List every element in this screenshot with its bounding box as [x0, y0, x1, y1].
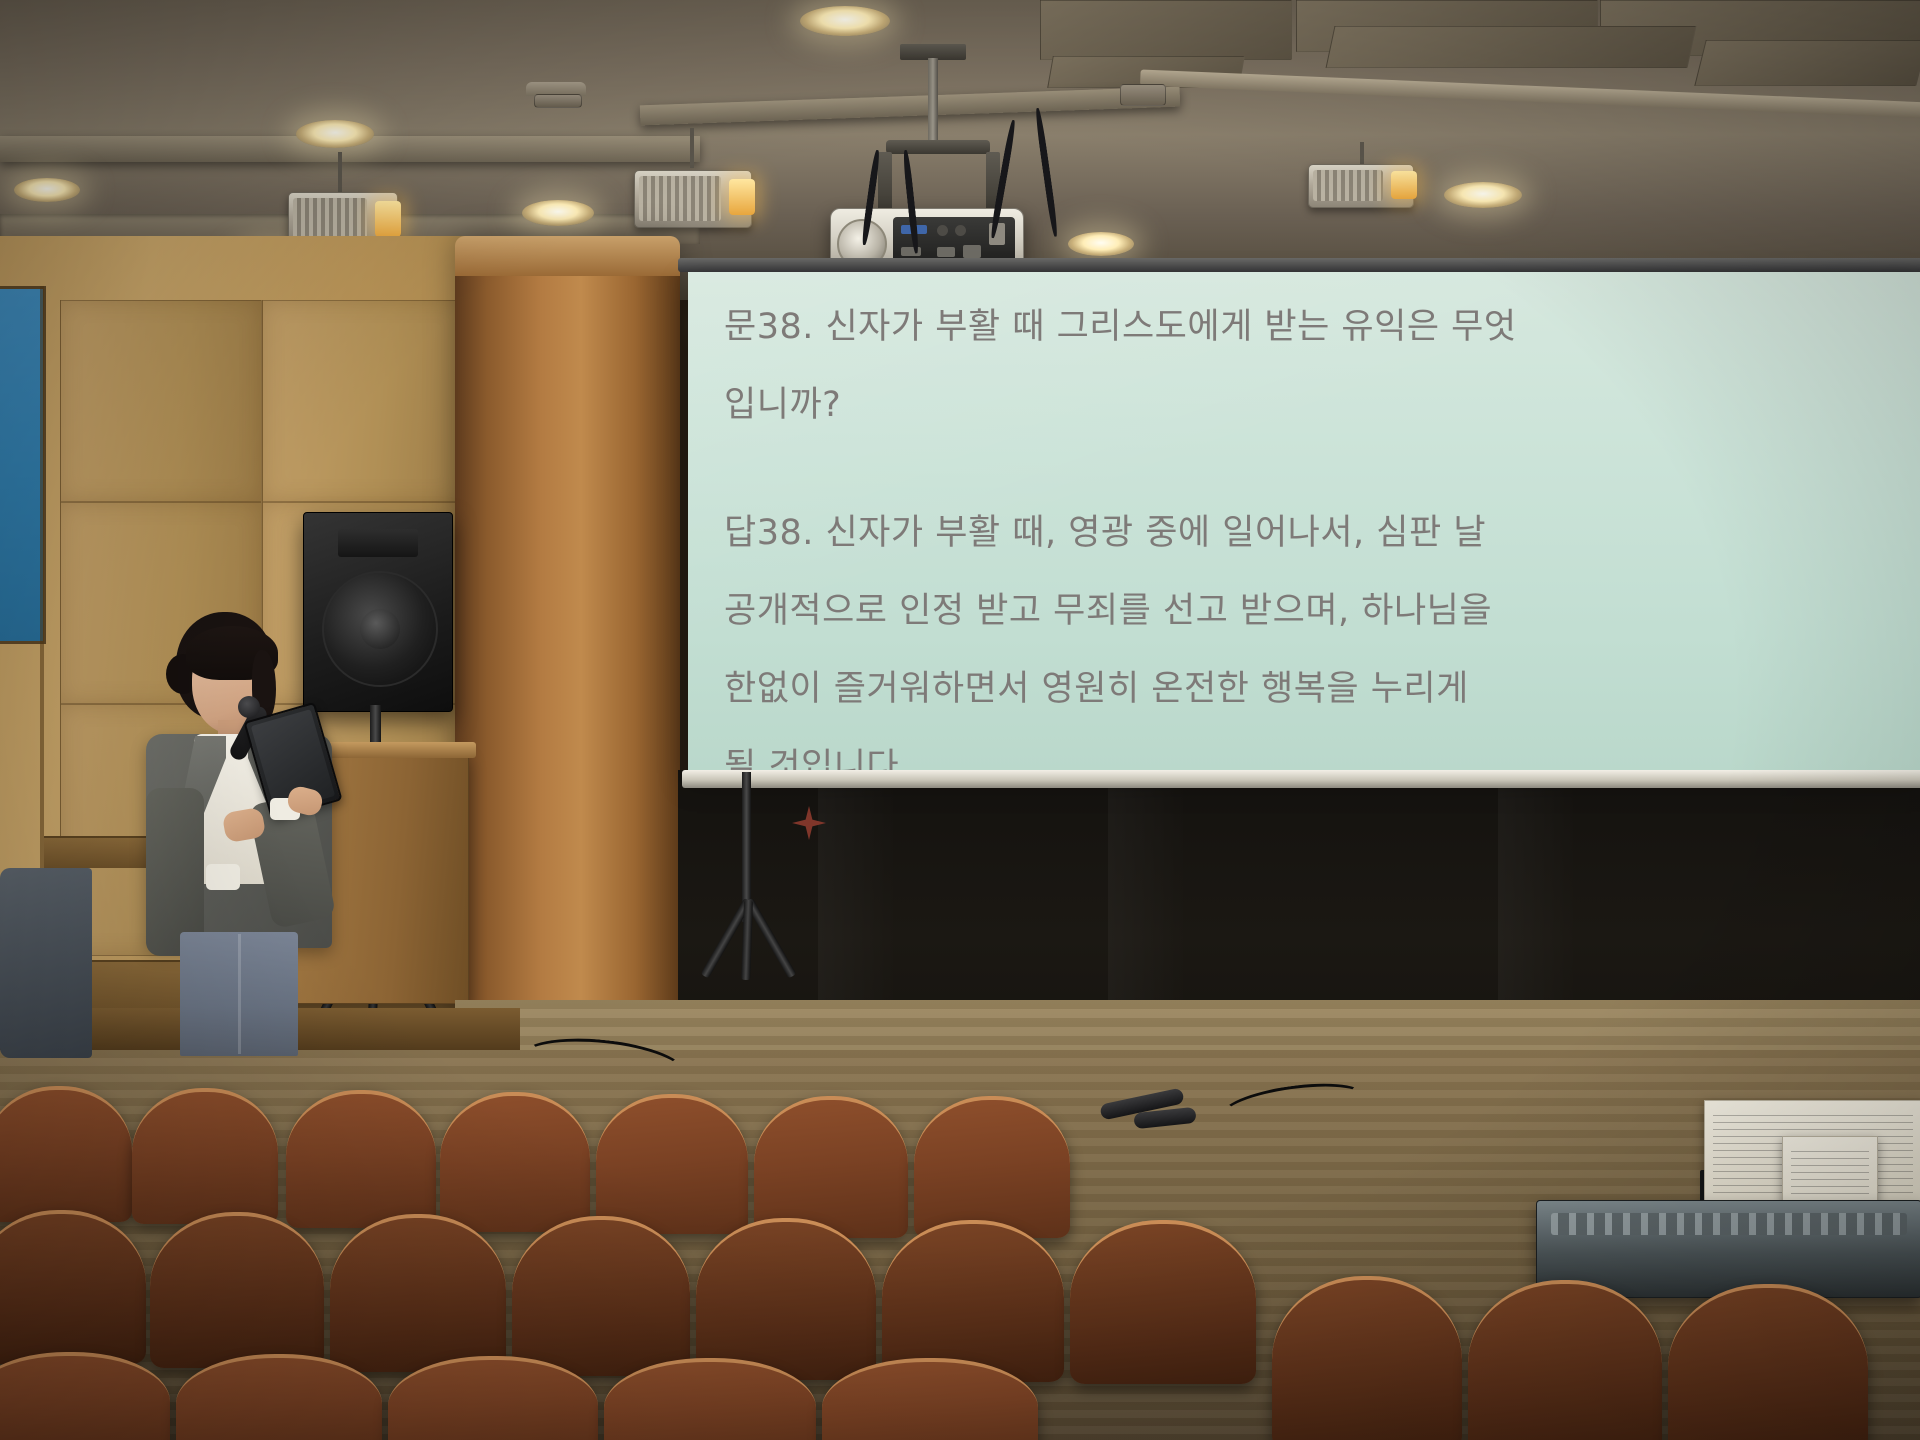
seat[interactable]: [132, 1088, 278, 1224]
equipment-bag: [0, 868, 92, 1058]
seat[interactable]: [696, 1218, 876, 1380]
light-lens: [375, 201, 401, 237]
projection-screen: 문38. 신자가 부활 때 그리스도에게 받는 유익은 무엇 입니까? 답38.…: [688, 272, 1920, 772]
slide-answer-line-2: 공개적으로 인정 받고 무죄를 선고 받으며, 하나님을: [724, 572, 1906, 650]
ceiling-vent: [1120, 84, 1166, 106]
stage-light-can: [1308, 164, 1414, 208]
light-lens: [1391, 171, 1417, 199]
presenter: [120, 612, 350, 1052]
auditorium-photo-scene: 충신교회 고등부 문38. 신자가 부활 때 그리스도에게 받는 유익은 무엇 …: [0, 0, 1920, 1440]
projector-lan-port: [963, 245, 981, 258]
projector-usb-port: [937, 247, 955, 257]
slide-question-line-2: 입니까?: [724, 366, 1906, 444]
downlight: [1444, 182, 1522, 208]
ceiling-tile: [1040, 0, 1292, 60]
seat[interactable]: [176, 1354, 382, 1440]
downlight: [14, 178, 80, 202]
seat[interactable]: [0, 1210, 146, 1364]
seat[interactable]: [286, 1090, 436, 1228]
projector-bracket: [886, 140, 990, 154]
light-lens: [729, 179, 755, 215]
presenter-arm-left: [146, 788, 204, 956]
projector-audio-port: [937, 225, 948, 236]
microphone-head: [238, 696, 260, 718]
light-fins: [293, 198, 367, 239]
slide-question-line-1: 문38. 신자가 부활 때 그리스도에게 받는 유익은 무엇: [724, 288, 1906, 366]
slide-answer-block: 답38. 신자가 부활 때, 영광 중에 일어나서, 심판 날 공개적으로 인정…: [724, 494, 1906, 806]
seat[interactable]: [914, 1096, 1070, 1238]
light-fins: [1313, 170, 1383, 201]
slide-answer-line-4: 될 것입니다.: [724, 728, 1906, 806]
seat[interactable]: [1272, 1276, 1462, 1440]
ceiling-tile: [1326, 26, 1697, 68]
projector-bracket-arm: [878, 152, 892, 214]
speaker-horn: [338, 529, 418, 557]
ceiling-vent: [534, 94, 582, 108]
slide-answer-line-3: 한없이 즐거워하면서 영원히 온전한 행복을 누리게: [724, 650, 1906, 728]
stage-light-can: [634, 170, 752, 228]
projection-screen-assembly: 문38. 신자가 부활 때 그리스도에게 받는 유익은 무엇 입니까? 답38.…: [688, 272, 1920, 772]
downlight: [800, 6, 890, 36]
stage-pillar: [455, 236, 680, 1026]
downlight: [1068, 232, 1134, 256]
light-fins: [639, 176, 721, 221]
seat[interactable]: [596, 1094, 748, 1234]
projector-hdmi-port: [901, 247, 921, 256]
seat[interactable]: [1070, 1220, 1256, 1384]
projector-audio-port: [955, 225, 966, 236]
seat[interactable]: [754, 1096, 908, 1238]
pillar-capital: [455, 236, 680, 276]
seat[interactable]: [150, 1212, 324, 1368]
auditorium-seating: [0, 1060, 1920, 1440]
shirt-cuff-left: [206, 864, 240, 890]
jeans-seam: [238, 934, 241, 1054]
wall-panel: [262, 300, 464, 502]
slide-answer-line-1: 답38. 신자가 부활 때, 영광 중에 일어나서, 심판 날: [724, 494, 1906, 572]
seat[interactable]: [1668, 1284, 1868, 1440]
seat[interactable]: [0, 1352, 170, 1440]
screen-roller-housing: [678, 258, 1920, 272]
wall-panel: [60, 300, 262, 502]
seat[interactable]: [0, 1086, 132, 1222]
light-yoke: [690, 128, 694, 168]
seat[interactable]: [1468, 1280, 1662, 1440]
downlight: [296, 120, 374, 148]
seat[interactable]: [512, 1216, 690, 1376]
seat[interactable]: [440, 1092, 590, 1232]
seat[interactable]: [330, 1214, 506, 1372]
downlight: [522, 200, 594, 226]
screen-bottom-weight-bar: [682, 770, 1920, 788]
ceiling-tile: [1694, 40, 1920, 86]
projector-mount-pole: [928, 58, 938, 146]
light-yoke: [338, 152, 342, 196]
slide-question-block: 문38. 신자가 부활 때 그리스도에게 받는 유익은 무엇 입니까?: [724, 288, 1906, 444]
